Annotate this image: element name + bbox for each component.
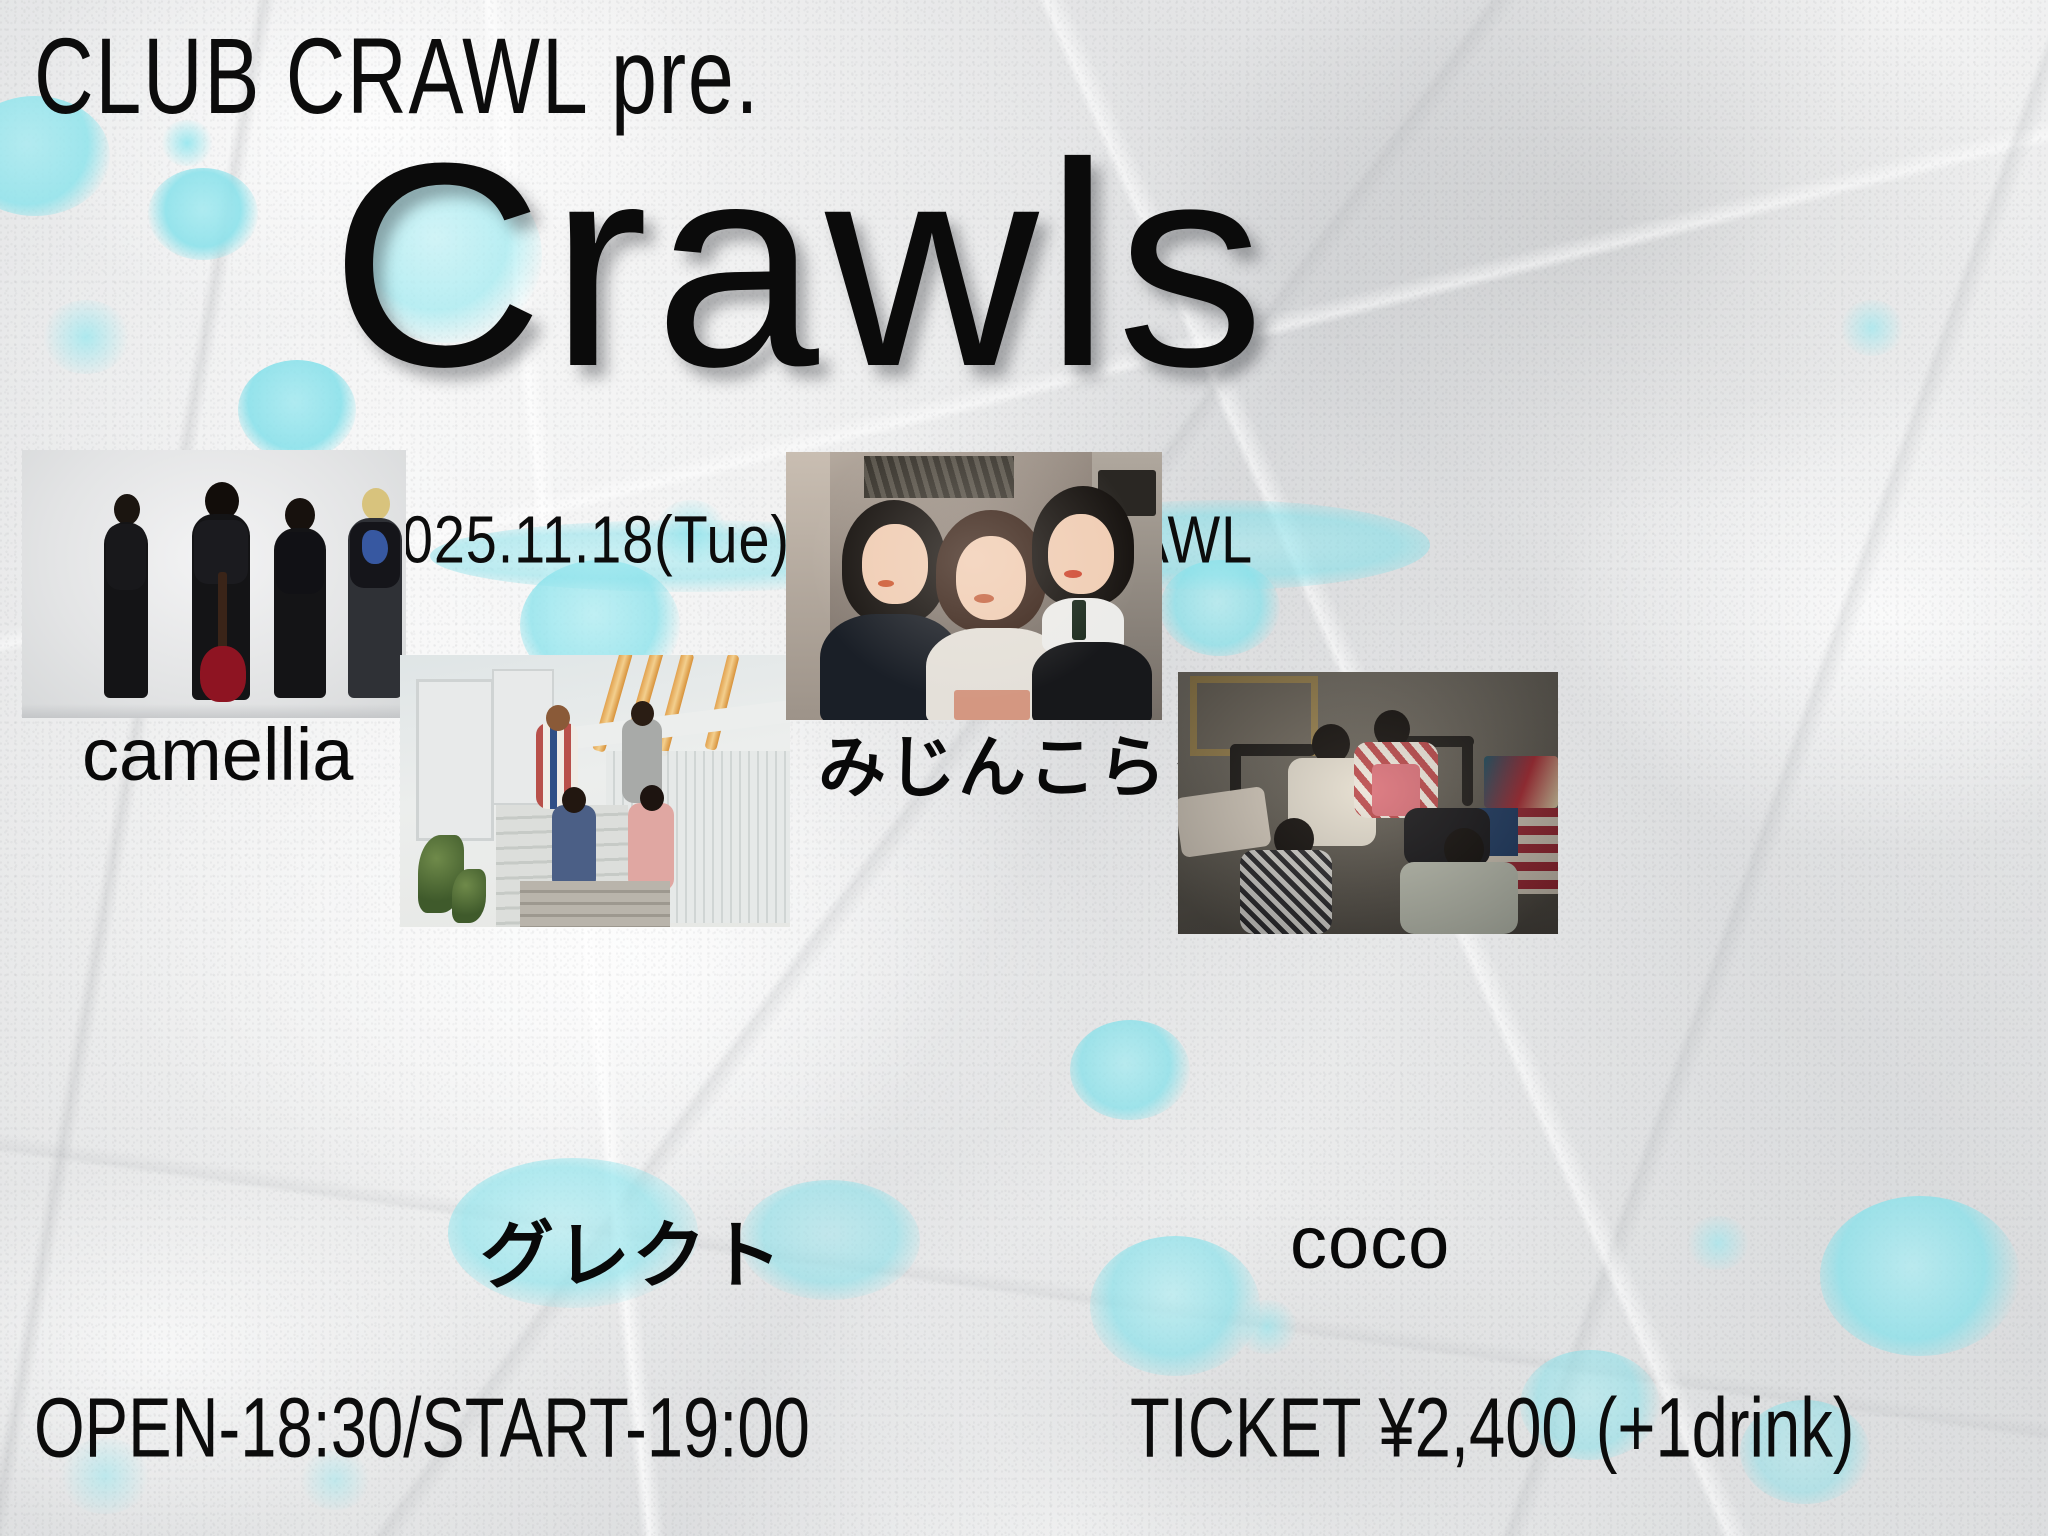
page-title: Crawls [330, 120, 1271, 410]
band-label-camellia: camellia [82, 712, 353, 797]
photo-coco [1178, 672, 1558, 934]
open-start-time: OPEN-18:30/START-19:00 [34, 1379, 810, 1476]
photo-mijinkorakku [786, 452, 1162, 720]
band-label-gurekuto: グレクト [480, 1196, 784, 1303]
band-label-coco: coco [1290, 1200, 1450, 1285]
ticket-price: TICKET ¥2,400 (+1drink) [1130, 1379, 1855, 1476]
flyer-poster: CLUB CRAWL pre. Crawls 2025.11.18(Tue) @… [0, 0, 2048, 1536]
photo-camellia [22, 450, 406, 718]
photo-gurekuto [400, 655, 790, 927]
